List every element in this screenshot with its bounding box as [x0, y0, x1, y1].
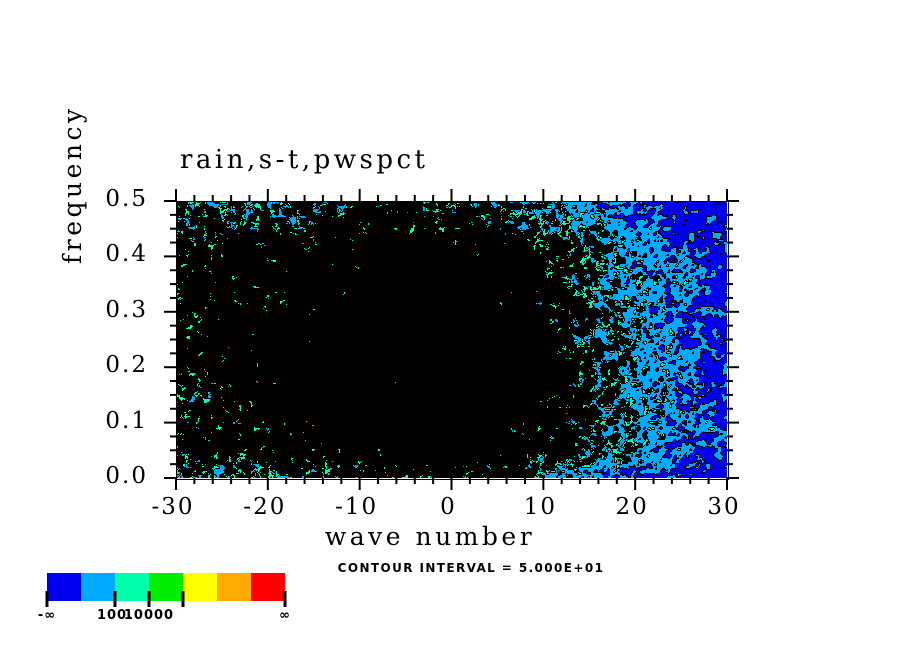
x-axis-title: wave number — [0, 522, 904, 551]
x-tick-label: -30 — [123, 494, 223, 520]
y-tick-label: 0.2 — [58, 352, 148, 378]
y-tick-label: 0.0 — [58, 463, 148, 489]
x-tick-label: 20 — [582, 494, 682, 520]
contour-interval-text: CONTOUR INTERVAL = 5.000E+01 — [338, 561, 605, 575]
x-axis-title-text: wave number — [325, 522, 535, 551]
x-tick-label: 10 — [490, 494, 590, 520]
axis-ticks — [0, 0, 904, 654]
y-tick-label: 0.3 — [58, 297, 148, 323]
colorbar-label: 10000 — [109, 608, 189, 623]
colorbar-label: ∞ — [245, 608, 325, 623]
y-axis-title: frequency — [58, 64, 87, 264]
figure-canvas: rain,s-t,pwspct 0.00.10.20.30.40.5 -30-2… — [0, 0, 904, 654]
x-tick-label: -10 — [307, 494, 407, 520]
x-tick-label: 0 — [399, 494, 499, 520]
y-tick-label: 0.1 — [58, 408, 148, 434]
x-tick-label: -20 — [215, 494, 315, 520]
x-tick-label: 30 — [674, 494, 774, 520]
